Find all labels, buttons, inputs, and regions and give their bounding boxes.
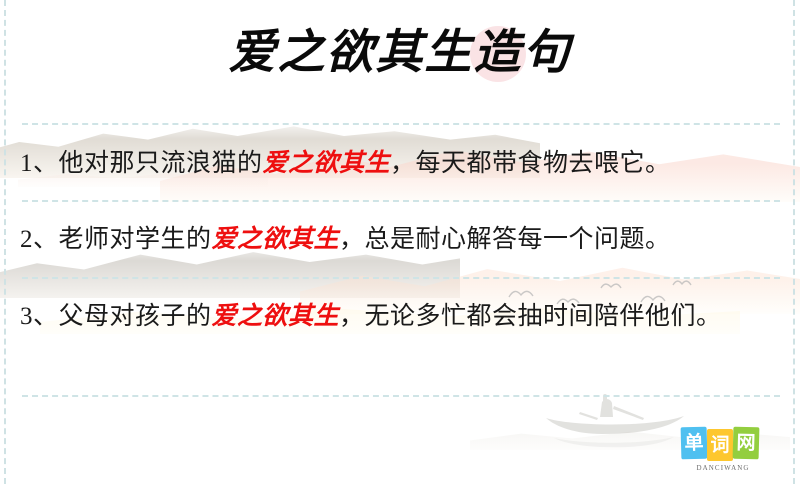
bird-icon: [600, 281, 622, 291]
sentence-text-before: 他对那只流浪猫的: [59, 150, 263, 177]
highlighted-keyword: 爱之欲其生: [212, 226, 340, 253]
slide-canvas: 爱之欲其生造句 1、他对那只流浪猫的爱之欲其生，每天都带食物去喂它。 2、老师对…: [0, 0, 800, 484]
logo-tiles: 单 词 网: [681, 427, 765, 461]
highlighted-keyword: 爱之欲其生: [212, 303, 340, 330]
example-sentence-1: 1、他对那只流浪猫的爱之欲其生，每天都带食物去喂它。: [20, 143, 782, 185]
divider-1: [22, 123, 780, 125]
logo-tile-1: 单: [681, 427, 708, 460]
divider-3: [22, 277, 780, 279]
divider-4: [22, 395, 780, 397]
page-title: 爱之欲其生造句: [0, 28, 800, 80]
highlighted-keyword: 爱之欲其生: [263, 150, 391, 177]
fishing-boat-icon: [540, 392, 690, 448]
logo-subtitle: DANCIWANG: [681, 464, 765, 472]
sentence-index: 1、: [20, 150, 59, 177]
sentence-index: 2、: [20, 226, 59, 253]
sentence-text-before: 父母对孩子的: [59, 303, 212, 330]
logo-tile-3: 网: [733, 427, 760, 460]
sentence-index: 3、: [20, 303, 59, 330]
example-sentence-3: 3、父母对孩子的爱之欲其生，无论多忙都会抽时间陪伴他们。: [20, 296, 782, 338]
sentence-text-before: 老师对学生的: [59, 226, 212, 253]
sentence-text-after: ，总是耐心解答每一个问题。: [339, 226, 671, 253]
bird-icon: [672, 278, 692, 288]
site-logo[interactable]: 单 词 网 DANCIWANG: [681, 427, 765, 472]
divider-2: [22, 200, 780, 202]
sentence-text-after: ，每天都带食物去喂它。: [390, 150, 671, 177]
logo-tile-2: 词: [707, 429, 733, 461]
example-sentence-2: 2、老师对学生的爱之欲其生，总是耐心解答每一个问题。: [20, 219, 782, 261]
sentence-text-after: ，无论多忙都会抽时间陪伴他们。: [339, 303, 722, 330]
